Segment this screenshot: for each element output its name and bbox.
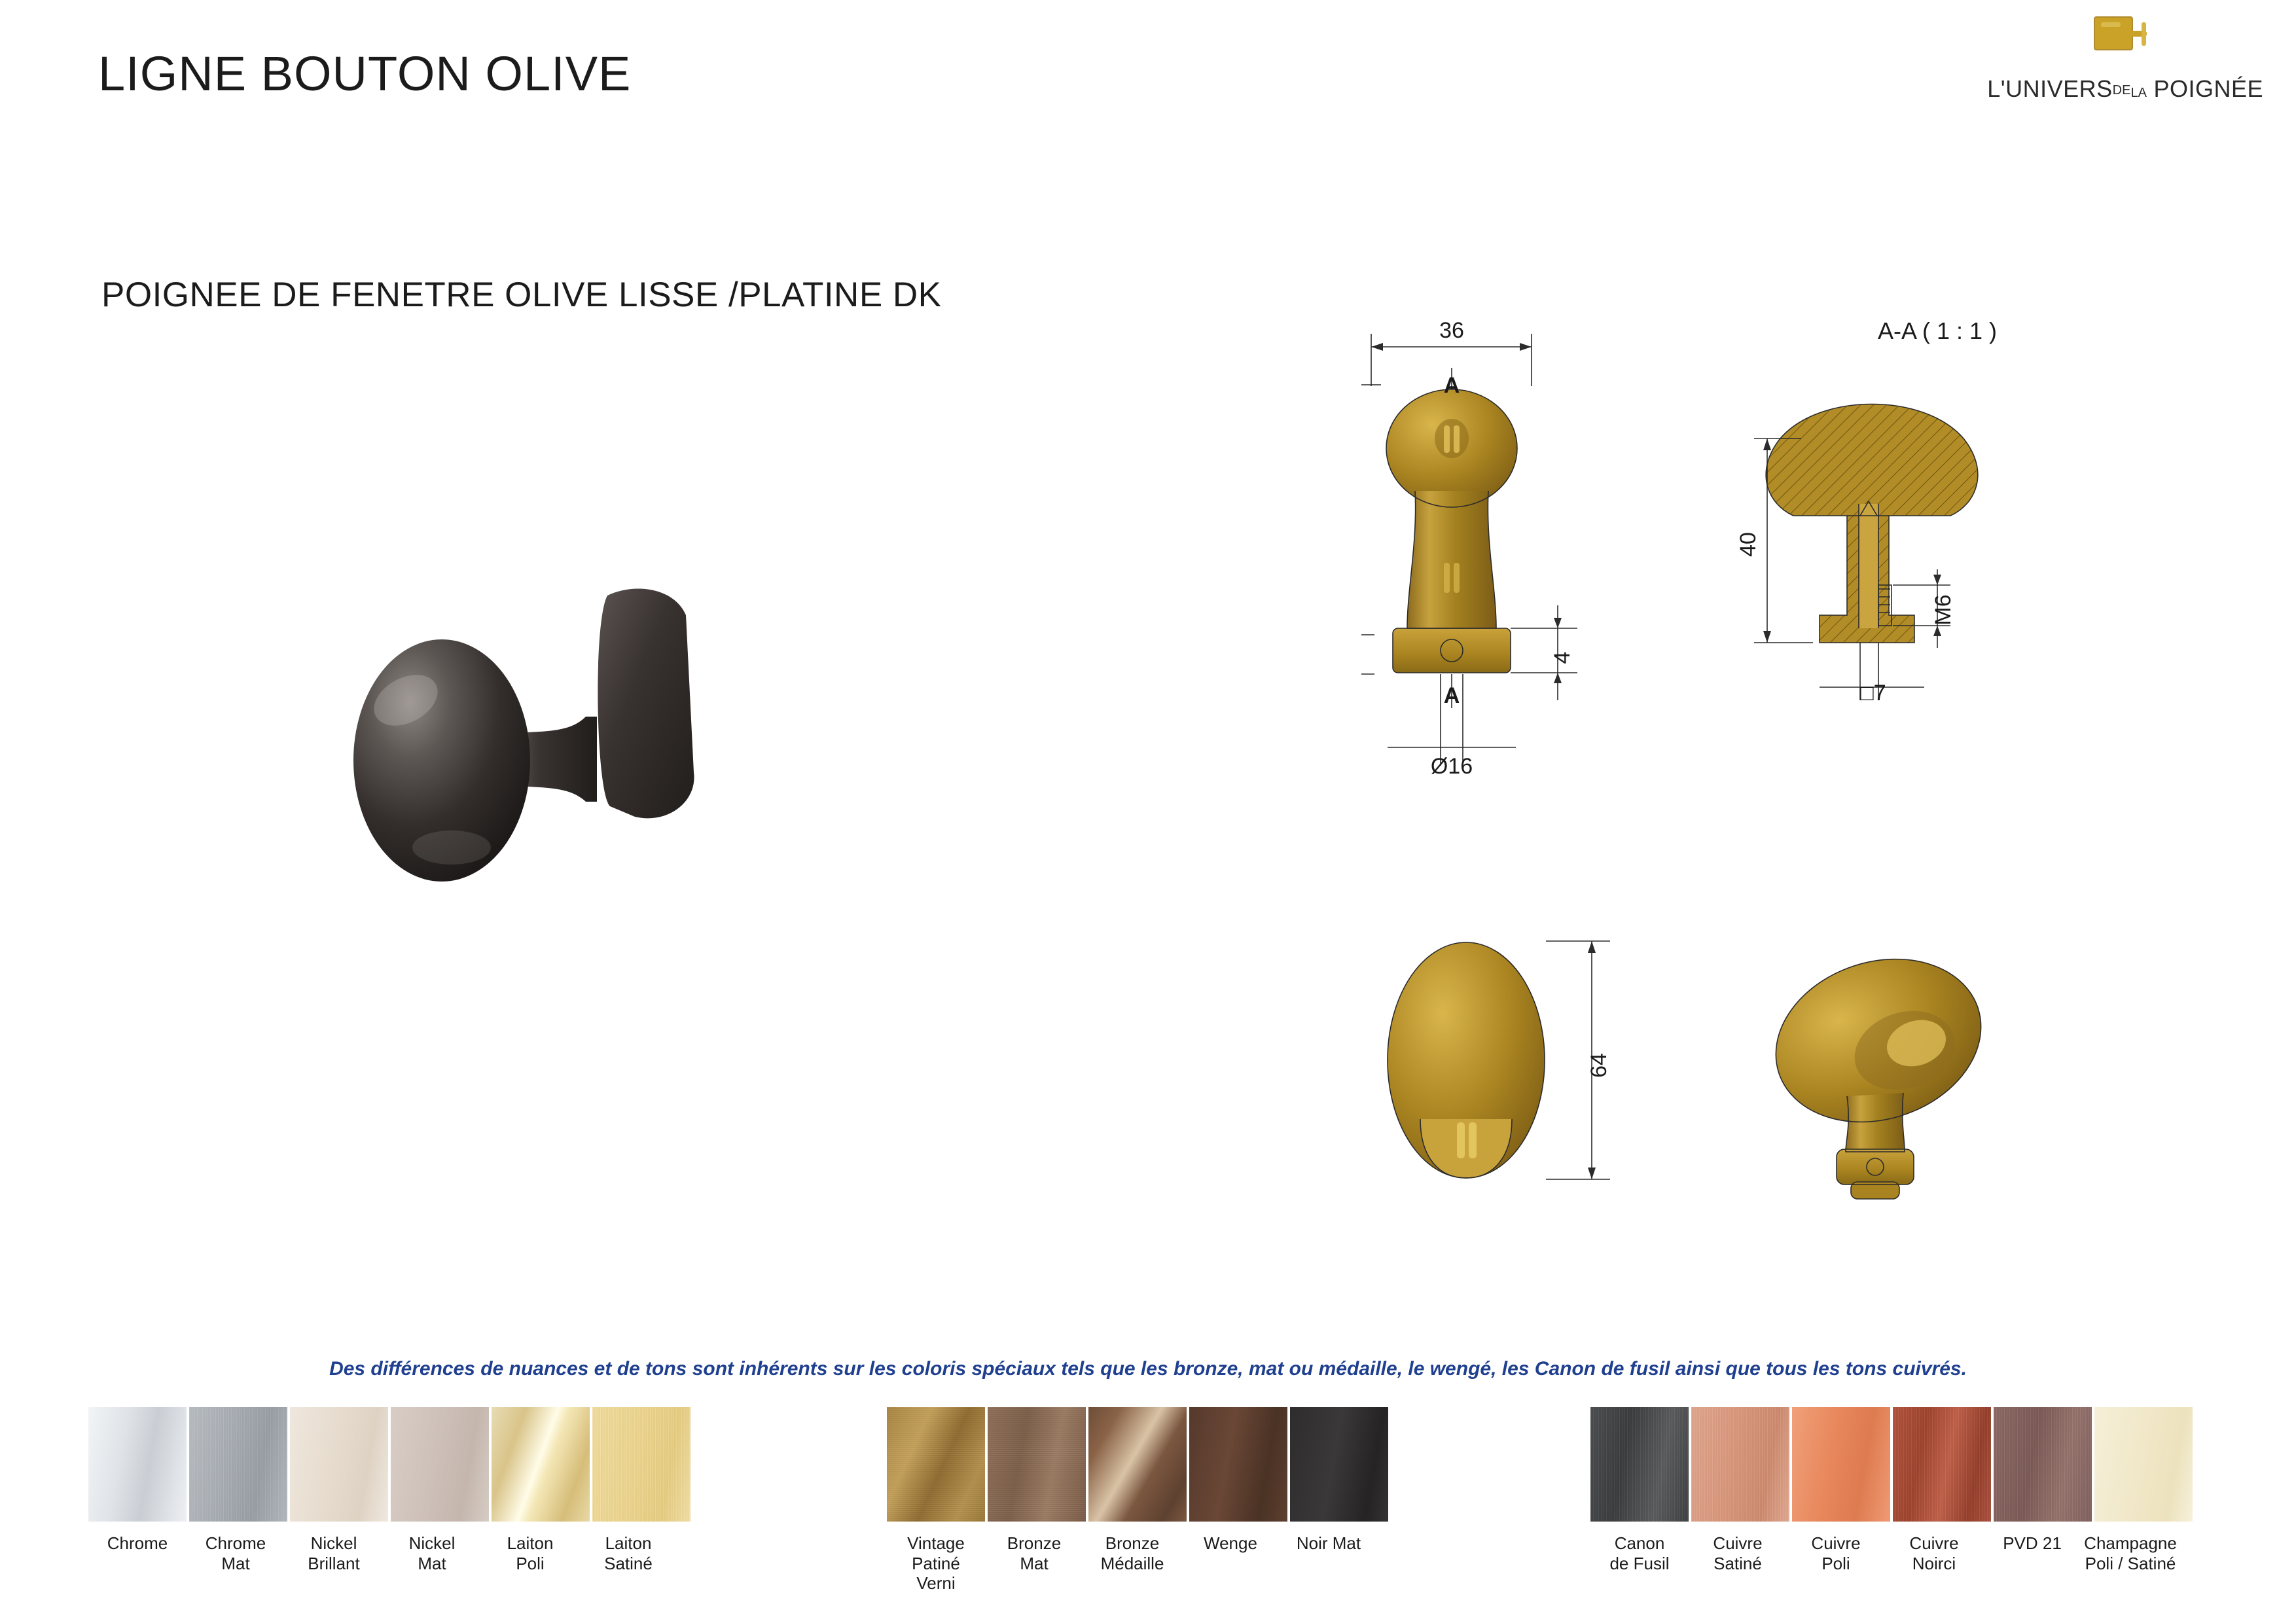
section-letter-bottom: A [1444,683,1460,708]
swatch-label: Wenge [1181,1533,1280,1594]
section-view-label: A-A ( 1 : 1 ) [1878,317,1997,344]
swatch-label: Vintage PatinéVerni [887,1533,985,1594]
swatch-label: Chrome [88,1533,187,1573]
swatch-canon-de-fusil[interactable] [1590,1407,1689,1522]
swatch-vintage-patine-verni[interactable] [887,1407,985,1522]
swatch-label: CuivreSatiné [1689,1533,1787,1573]
product-photo [327,576,825,942]
swatch-label: ChromeMat [187,1533,285,1573]
swatch-pvd-21[interactable] [1994,1407,2092,1522]
brand-logo: L'UNIVERSDELA POIGNÉE [1962,13,2270,118]
section-letter-top: A [1444,373,1460,398]
swatch-label: PVD 21 [1983,1533,2081,1573]
catalog-page: LIGNE BOUTON OLIVE POIGNEE DE FENETRE OL… [0,0,2296,1623]
swatch-nickel-brillant[interactable] [290,1407,388,1522]
swatch-bronze-medaille[interactable] [1088,1407,1187,1522]
swatch-label: LaitonSatiné [579,1533,677,1573]
swatch-label: CuivrePoli [1787,1533,1885,1573]
swatch-nickel-mat[interactable] [391,1407,489,1522]
finish-group-copper: Canonde Fusil CuivreSatiné CuivrePoli Cu… [1590,1407,2193,1573]
swatch-label: NickelBrillant [285,1533,383,1573]
swatch-label: BronzeMat [985,1533,1083,1594]
dim-diameter-label: Ø16 [1431,754,1473,779]
swatch-label: Canonde Fusil [1590,1533,1689,1573]
swatch-label: CuivreNoirci [1885,1533,1983,1573]
dim-width-label: 36 [1439,318,1464,343]
swatch-chrome-mat[interactable] [189,1407,287,1522]
swatch-chrome[interactable] [88,1407,187,1522]
logo-wordmark: L'UNIVERSDELA POIGNÉE [1987,75,2263,103]
finish-group-standard: Chrome ChromeMat NickelBrillant NickelMa… [88,1407,691,1573]
product-subtitle: POIGNEE DE FENETRE OLIVE LISSE /PLATINE … [101,275,942,315]
finish-disclaimer: Des différences de nuances et de tons so… [0,1358,2296,1380]
finish-group-special: Vintage PatinéVerni BronzeMat BronzeMéda… [887,1407,1388,1594]
logo-text-univers: L'UNIVERS [1987,75,2112,102]
swatch-bronze-mat[interactable] [988,1407,1086,1522]
logo-text-poignee: POIGNÉE [2153,75,2263,102]
swatch-cuivre-satine[interactable] [1691,1407,1789,1522]
dim-thread-label: M6 [1931,594,1956,625]
technical-drawing: 36 58 8 4 Ø16 A A A-A ( 1 : 1 ) 40 M6 □7… [1361,308,2212,1302]
swatch-laiton-poli[interactable] [492,1407,590,1522]
dim-length-label: 64 [1587,1053,1611,1078]
swatch-champagne-poli-satine[interactable] [2094,1407,2193,1522]
swatch-label: ChampagnePoli / Satiné [2081,1533,2179,1573]
logo-text-de: DE [2113,83,2131,98]
swatch-laiton-satine[interactable] [592,1407,691,1522]
logo-text-la: LA [2130,86,2146,100]
dim-depth-label: 40 [1736,532,1761,557]
dim-offset-label: 4 [1550,652,1575,664]
swatch-label: NickelMat [383,1533,481,1573]
swatch-noir-mat[interactable] [1290,1407,1388,1522]
dim-square-label: □7 [1860,681,1886,705]
page-title: LIGNE BOUTON OLIVE [98,46,631,101]
swatch-label: LaitonPoli [481,1533,579,1573]
swatch-cuivre-noirci[interactable] [1893,1407,1991,1522]
swatch-cuivre-poli[interactable] [1792,1407,1890,1522]
logo-handle-icon [2093,13,2152,67]
swatch-wenge[interactable] [1189,1407,1287,1522]
photo-backplate [598,589,694,819]
swatch-label: Noir Mat [1280,1533,1378,1594]
swatch-label: BronzeMédaille [1083,1533,1181,1594]
